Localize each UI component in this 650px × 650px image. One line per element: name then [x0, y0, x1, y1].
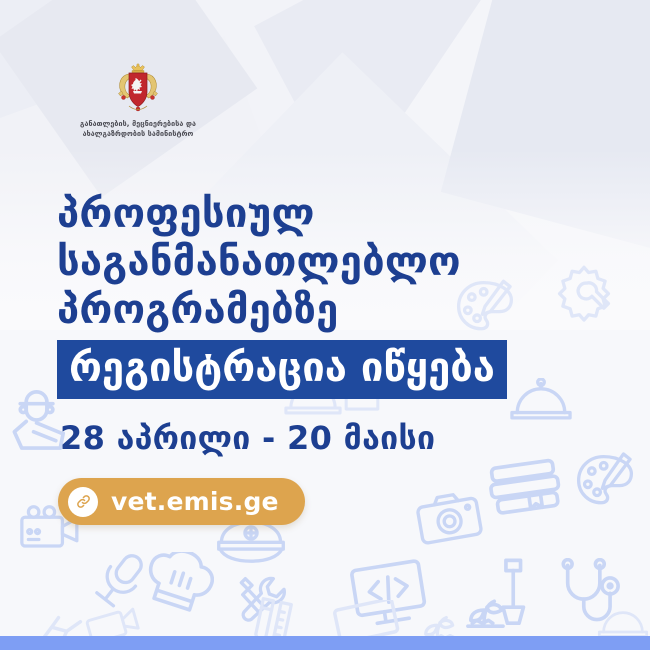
headline-line-3: პროგრამებზე — [57, 286, 597, 334]
headline-line-1: პროფესიულ — [57, 190, 597, 238]
ministry-name-line1: განათლების, მეცნიერებისა და — [48, 119, 228, 129]
link-chain-icon — [68, 487, 98, 517]
chef-hat-icon — [142, 552, 214, 618]
headline-line-2: საგანმანათლებლო — [57, 238, 597, 286]
ministry-name: განათლების, მეცნიერებისა და ახალგაზრდობი… — [48, 119, 228, 140]
ministry-name-line2: ახალგაზრდობის სამინისტრო — [48, 129, 228, 139]
georgian-coat-of-arms — [107, 62, 169, 114]
website-url-label: vet.emis.ge — [111, 489, 279, 514]
paint-palette-icon — [572, 450, 638, 512]
headline-highlight-banner: რეგისტრაცია იწყება — [57, 340, 507, 399]
books-stack-icon — [484, 452, 566, 526]
camera-icon — [414, 490, 484, 546]
bottom-accent-strip — [0, 636, 650, 650]
poster-canvas: განათლების, მეცნიერებისა და ახალგაზრდობი… — [0, 0, 650, 650]
ministry-logo-block: განათლების, მეცნიერებისა და ახალგაზრდობი… — [48, 62, 228, 140]
headline-block: პროფესიულ საგანმანათლებლო პროგრამებზე რე… — [57, 190, 597, 399]
registration-date-range: 28 აპრილი - 20 მაისი — [60, 418, 435, 458]
website-url-button[interactable]: vet.emis.ge — [58, 478, 305, 525]
